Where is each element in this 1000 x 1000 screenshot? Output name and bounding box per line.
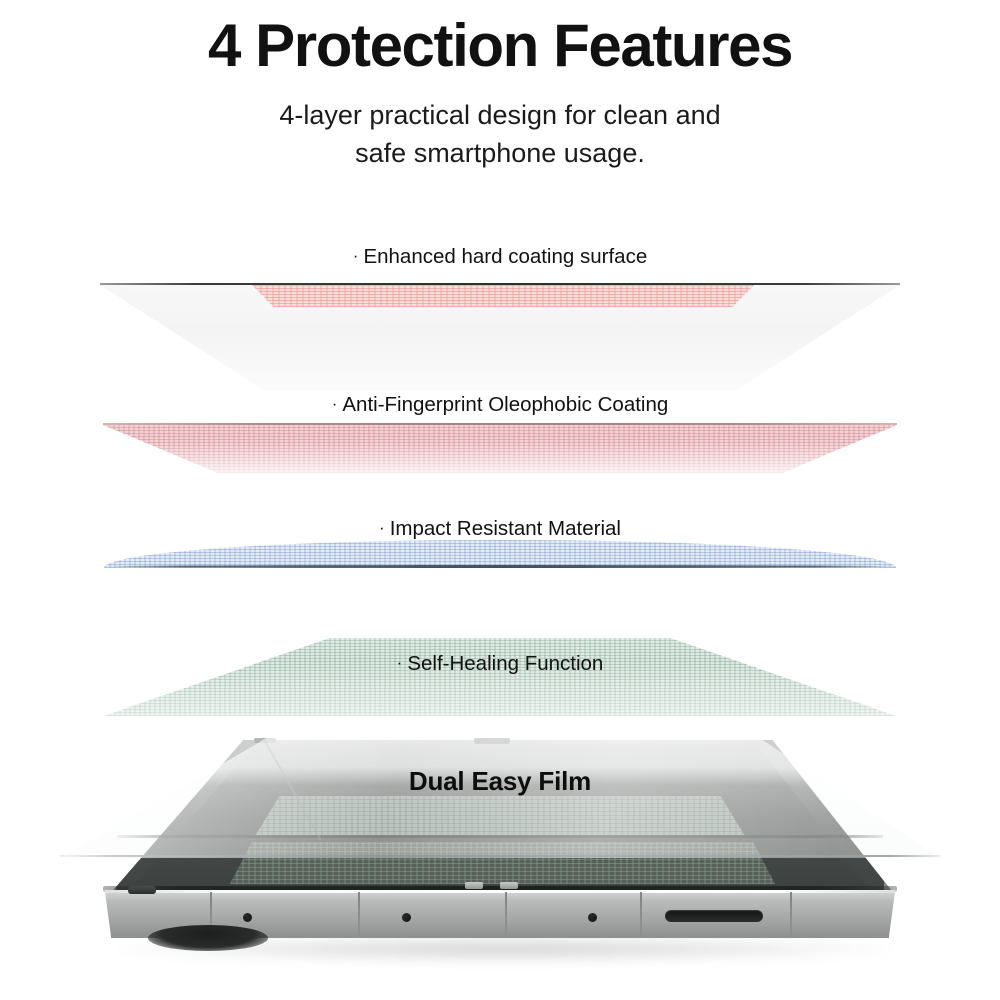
- layer-2-fade: [103, 425, 897, 473]
- layer-2-top-edge: [103, 423, 897, 425]
- device-frame-highlight: [99, 890, 901, 893]
- microphone-hole-icon: [243, 913, 252, 922]
- usb-c-port-icon: [665, 910, 763, 922]
- layer-4-fade: [104, 638, 896, 716]
- side-button-icon: [128, 886, 156, 894]
- layer-1-coating-mesh: [248, 285, 758, 307]
- layer-label-anti-fingerprint-coating: ·Anti-Fingerprint Oleophobic Coating: [0, 393, 1000, 417]
- product-feature-graphic: 4 Protection Features 4-layer practical …: [0, 0, 1000, 1000]
- layer-label-impact-resistant-material: ·Impact Resistant Material: [0, 517, 1000, 541]
- layer-3-text: Impact Resistant Material: [390, 517, 621, 540]
- bullet-icon: ·: [379, 518, 385, 537]
- antenna-seam: [790, 892, 792, 937]
- antenna-seam: [640, 892, 642, 937]
- layer-label-self-healing-function: ·Self-Healing Function: [0, 652, 1000, 676]
- microphone-hole-icon: [402, 913, 411, 922]
- antenna-seam: [505, 892, 507, 937]
- layer-3-sheet: [104, 540, 896, 568]
- hinge-nub: [500, 882, 518, 889]
- layer-4-text: Self-Healing Function: [407, 652, 603, 675]
- subtitle-line-2: safe smartphone usage.: [0, 134, 1000, 172]
- page-title: 4 Protection Features: [0, 14, 1000, 78]
- layer-label-enhanced-hard-coating: ·Enhanced hard coating surface: [0, 245, 1000, 269]
- layer-1-top-edge: [100, 283, 900, 285]
- bullet-icon: ·: [397, 653, 403, 672]
- film-gloss-highlight: [60, 738, 940, 858]
- hinge-nub: [465, 882, 483, 889]
- page-subtitle: 4-layer practical design for clean and s…: [0, 96, 1000, 173]
- bullet-icon: ·: [332, 394, 338, 413]
- layer-1-text: Enhanced hard coating surface: [363, 245, 647, 268]
- bullet-icon: ·: [353, 246, 359, 265]
- microphone-hole-icon: [588, 913, 597, 922]
- layer-3-bottom-edge: [104, 565, 896, 568]
- device-corner-shadow: [148, 925, 268, 951]
- film-title: Dual Easy Film: [0, 766, 1000, 797]
- subtitle-line-1: 4-layer practical design for clean and: [279, 100, 720, 130]
- antenna-seam: [358, 892, 360, 937]
- layer-2-text: Anti-Fingerprint Oleophobic Coating: [342, 393, 668, 416]
- device-illustration: Dual Easy Film: [0, 720, 1000, 980]
